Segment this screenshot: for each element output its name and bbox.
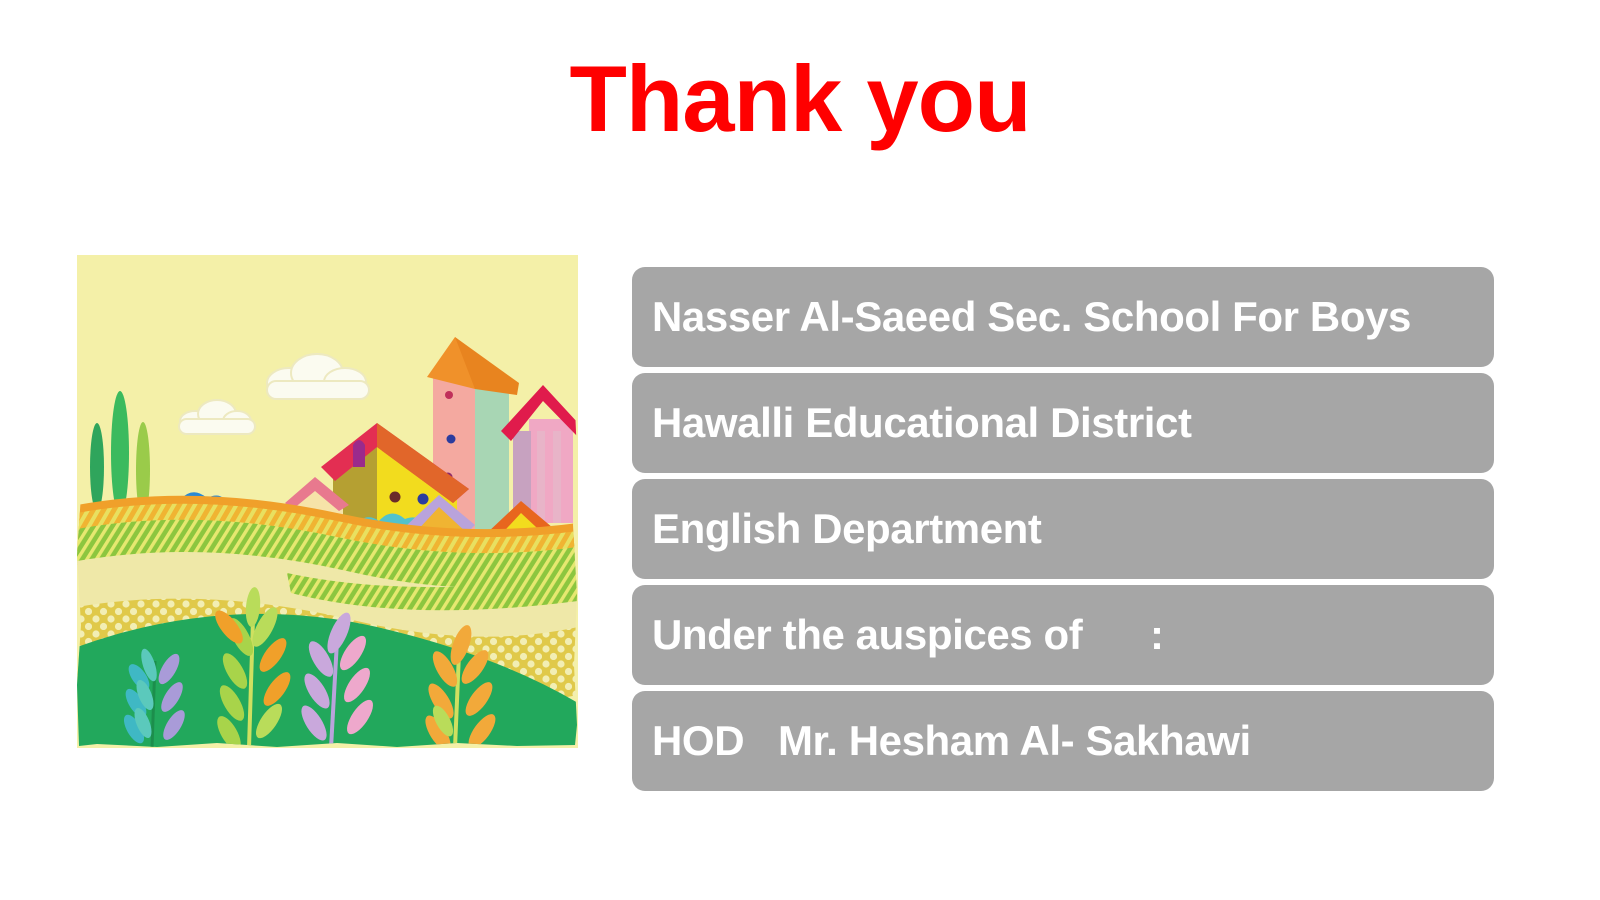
info-box-district-label: Hawalli Educational District xyxy=(632,399,1192,447)
info-box-auspices-label: Under the auspices of : xyxy=(632,611,1164,659)
info-box-department[interactable]: English Department xyxy=(632,479,1494,579)
info-box-school-name[interactable]: Nasser Al-Saeed Sec. School For Boys xyxy=(632,267,1494,367)
illustration-svg xyxy=(77,255,578,748)
info-box-hod[interactable]: HOD Mr. Hesham Al- Sakhawi xyxy=(632,691,1494,791)
info-box-hod-label: HOD Mr. Hesham Al- Sakhawi xyxy=(632,717,1251,765)
countryside-village-illustration xyxy=(77,255,578,748)
info-box-list: Nasser Al-Saeed Sec. School For Boys Haw… xyxy=(632,267,1494,797)
info-box-school-name-label: Nasser Al-Saeed Sec. School For Boys xyxy=(632,293,1411,341)
info-box-district[interactable]: Hawalli Educational District xyxy=(632,373,1494,473)
page-title: Thank you xyxy=(0,44,1600,154)
info-box-department-label: English Department xyxy=(632,505,1042,553)
info-box-auspices[interactable]: Under the auspices of : xyxy=(632,585,1494,685)
